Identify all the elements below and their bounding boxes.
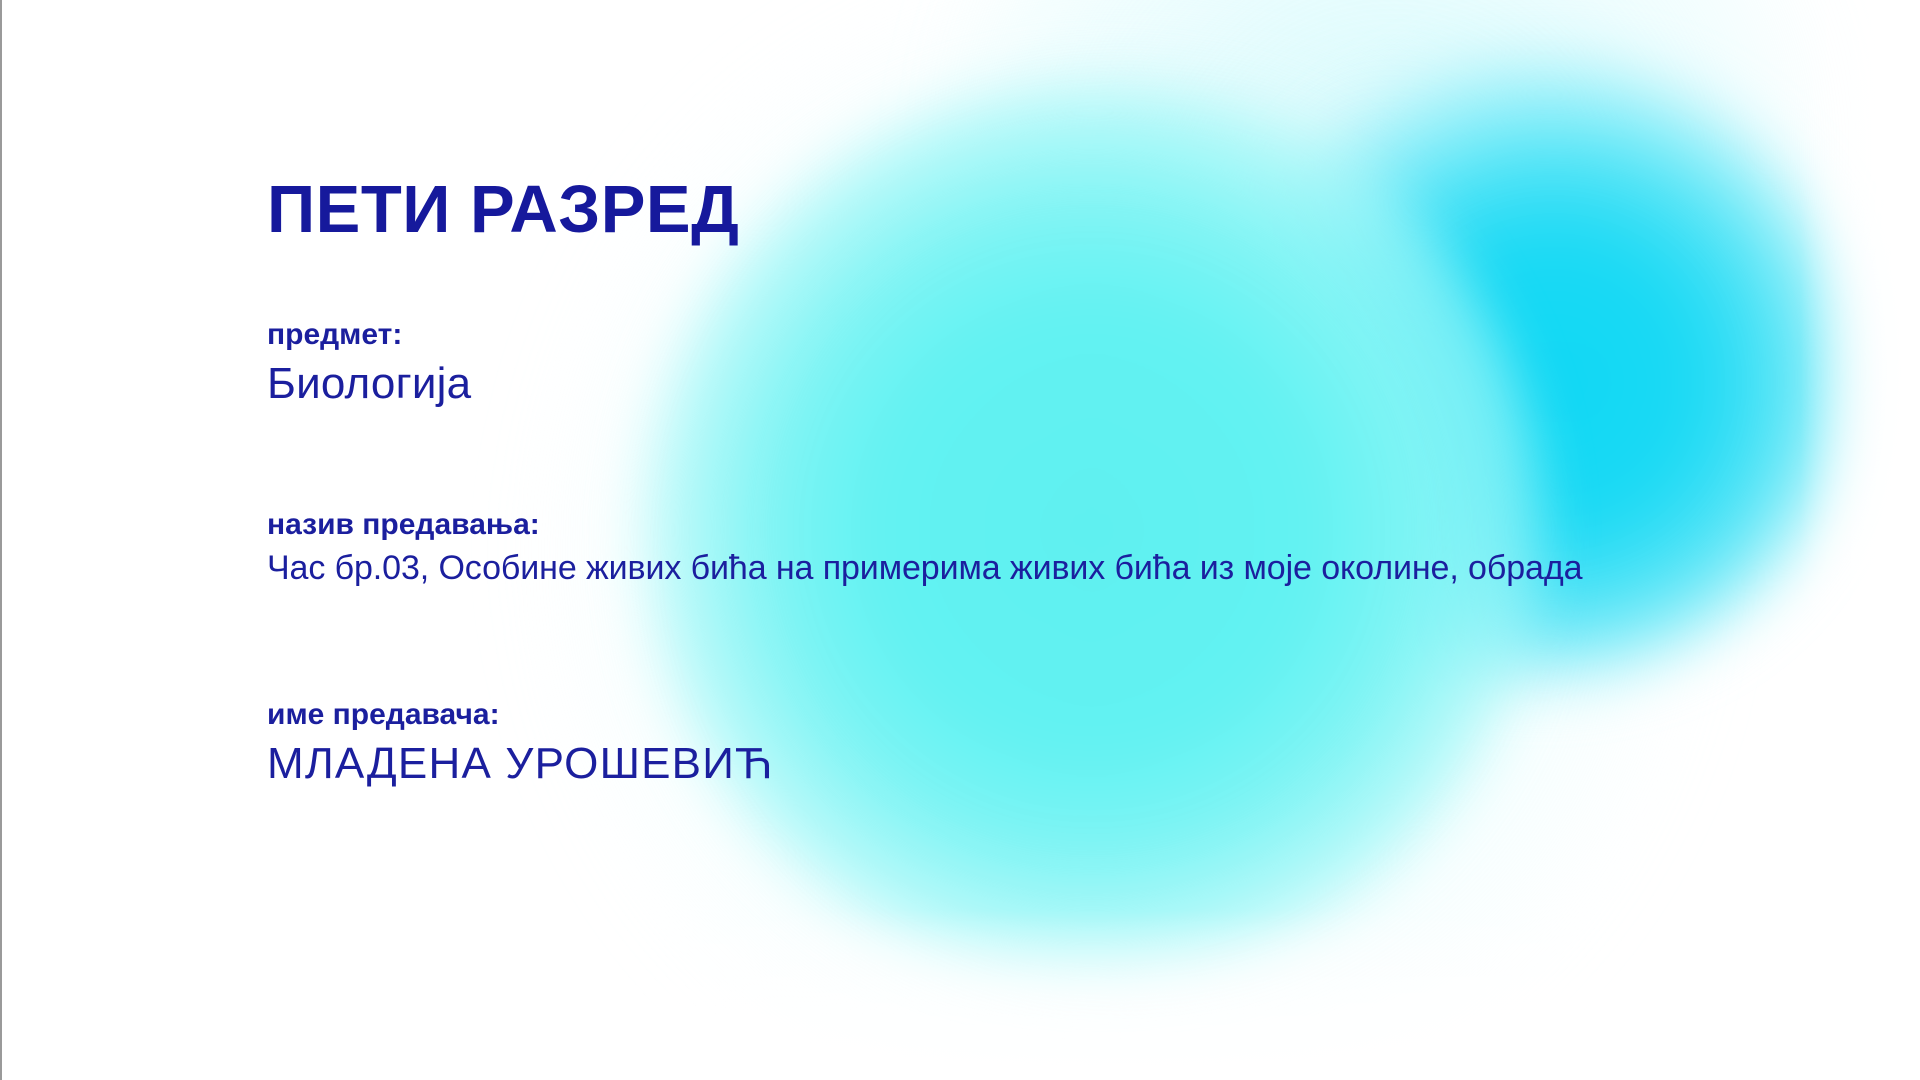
field-subject: предмет: Биологија xyxy=(267,318,1887,409)
lecture-title-label: назив предавања: xyxy=(267,508,1887,543)
field-teacher-name: име предавача: МЛАДЕНА УРОШЕВИЋ xyxy=(267,698,1887,789)
lecture-title-value: Час бр.03, Особине живих бића на примери… xyxy=(267,549,1887,588)
slide-content: ПЕТИ РАЗРЕД предмет: Биологија назив пре… xyxy=(267,0,1887,1080)
title-slide: ПЕТИ РАЗРЕД предмет: Биологија назив пре… xyxy=(0,0,1920,1080)
teacher-name-value: МЛАДЕНА УРОШЕВИЋ xyxy=(267,739,1887,790)
subject-value: Биологија xyxy=(267,359,1887,410)
teacher-name-label: име предавача: xyxy=(267,698,1887,733)
field-lecture-title: назив предавања: Час бр.03, Особине живи… xyxy=(267,508,1887,588)
subject-label: предмет: xyxy=(267,318,1887,353)
page-title: ПЕТИ РАЗРЕД xyxy=(267,176,739,243)
